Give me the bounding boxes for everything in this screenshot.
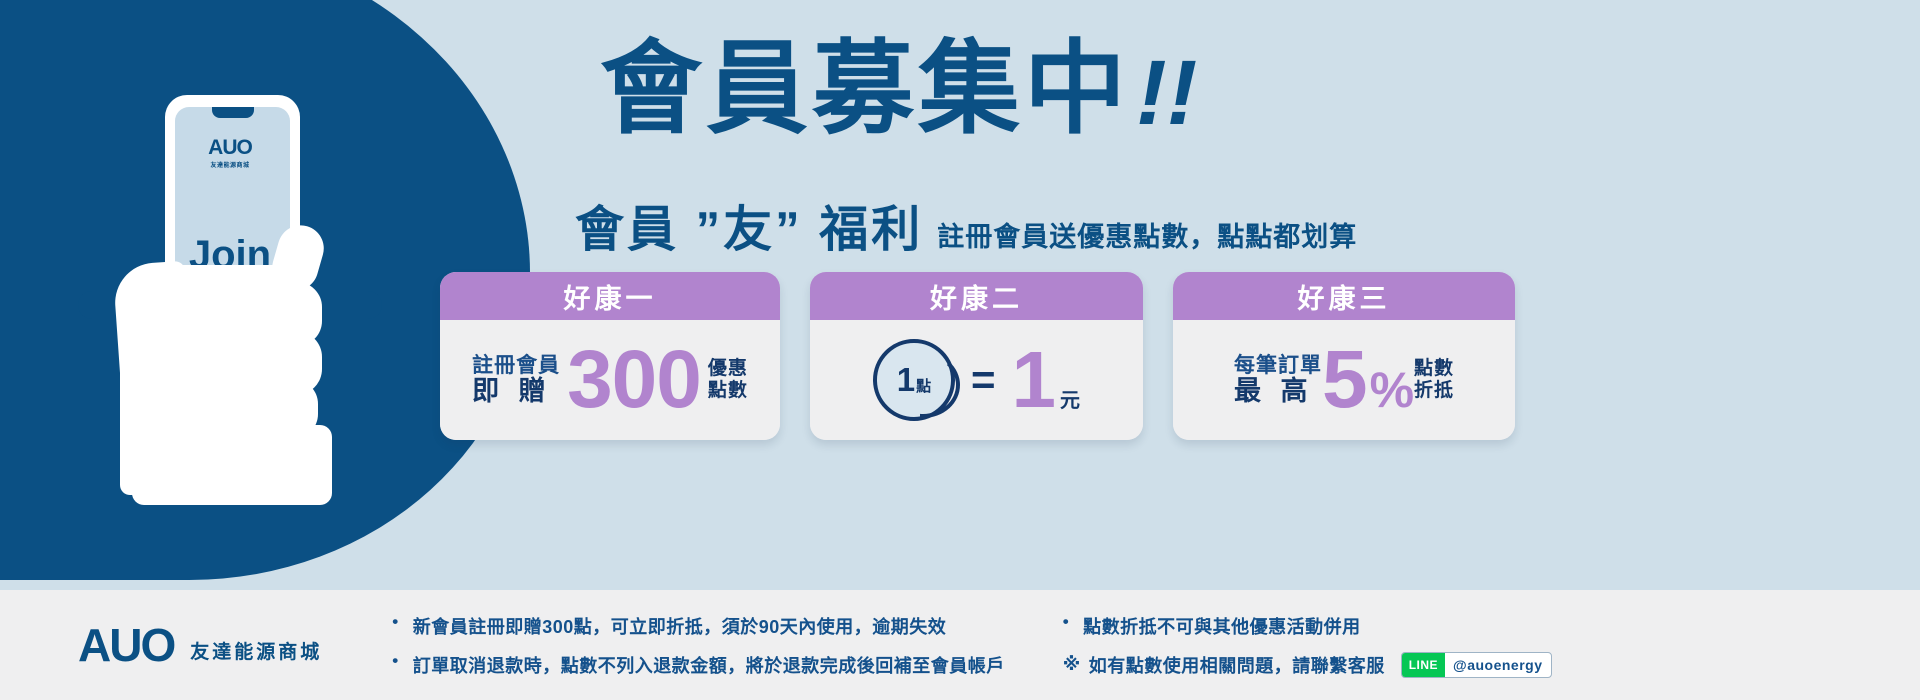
card-1-number: 300 [567,341,701,419]
footer-bar: AUO 友達能源商城 • 新會員註冊即贈300點，可立即折抵，須於90天內使用，… [0,590,1920,700]
banner-subtitle: 會員 ”友” 福利 註冊會員送優惠點數，點點都划算 [575,190,1475,261]
card-3-left-top: 每筆訂單 [1234,355,1322,377]
benefit-card-2-header: 好康二 [810,272,1143,320]
phone-in-hand-illustration: AUO 友達能源商城 Join 加入會員 [60,95,400,485]
footer-note-item: • 訂單取消退款時，點數不列入退款金額，將於退款完成後回補至會員帳戶 [392,652,1004,678]
footer-note-item: • 點數折抵不可與其他優惠活動併用 [1063,613,1552,639]
coin-number: 1 [897,361,915,399]
footer-note-text: 點數折抵不可與其他優惠活動併用 [1083,613,1361,639]
hand-finger-4 [268,379,318,439]
card-3-number: 5 [1322,341,1368,419]
footer-notes-left: • 新會員註冊即贈300點，可立即折抵，須於90天內使用，逾期失效 • 訂單取消… [392,613,1004,678]
headline-text: 會員募集中 [600,32,1130,146]
subtitle-detail: 註冊會員送優惠點數，點點都划算 [937,215,1357,254]
benefit-card-1: 好康一 註冊會員 即 贈 300 優惠 點數 [440,272,780,440]
benefit-card-2-body: 1 點 = 1 元 [810,320,1143,440]
footer-note-text: 訂單取消退款時，點數不列入退款金額，將於退款完成後回補至會員帳戶 [413,652,1005,678]
coin-icon: 1 點 [873,339,955,421]
footer-note-text: 如有點數使用相關問題，請聯繫客服 [1089,652,1385,678]
card-2-value: 1 元 [1012,342,1081,418]
coin-label: 1 點 [897,361,931,399]
footer-logo: AUO 友達能源商城 [78,622,322,668]
line-account-badge[interactable]: LINE @auoenergy [1401,652,1552,678]
footer-note-text: 新會員註冊即贈300點，可立即折抵，須於90天內使用，逾期失效 [413,613,947,639]
phone-logo: AUO 友達能源商城 [60,137,400,169]
equals-sign: = [971,356,996,404]
footer-notes: • 新會員註冊即贈300點，可立即折抵，須於90天內使用，逾期失效 • 訂單取消… [392,613,1551,678]
footer-logo-mark: AUO [78,622,174,668]
card-1-right-bottom: 點數 [708,380,748,402]
footer-logo-name: 友達能源商城 [190,637,322,668]
card-2-unit: 元 [1060,384,1080,413]
promo-banner: AUO 友達能源商城 Join 加入會員 會員募集中!! 會員 ”友” 福利 註… [0,0,1920,700]
benefit-card-3-body: 每筆訂單 最 高 5 % 點數 折抵 [1173,320,1515,440]
footer-note-item: • 新會員註冊即贈300點，可立即折抵，須於90天內使用，逾期失效 [392,613,1004,639]
card-3-right-top: 點數 [1414,358,1454,380]
subtitle-main: 會員 ”友” 福利 [575,190,923,261]
card-3-percent: 5 % [1322,341,1414,419]
card-3-symbol: % [1370,361,1414,419]
headline-exclamation: !! [1136,42,1197,144]
bullet-icon: • [392,652,398,671]
benefit-card-3-header: 好康三 [1173,272,1515,320]
reference-mark-icon: ※ [1063,654,1081,675]
benefit-card-1-header: 好康一 [440,272,780,320]
hand-thumb [113,261,196,426]
phone-logo-subtitle: 友達能源商城 [60,160,400,169]
card-1-left-bottom: 即 贈 [472,377,560,406]
footer-notes-right: • 點數折抵不可與其他優惠活動併用 ※ 如有點數使用相關問題，請聯繫客服 LIN… [1063,613,1552,678]
card-3-right-bottom: 折抵 [1414,380,1454,402]
phone-notch [212,107,254,118]
card-1-right-text: 優惠 點數 [708,358,748,402]
coin-unit: 點 [916,375,931,396]
benefit-cards: 好康一 註冊會員 即 贈 300 優惠 點數 好康二 1 點 [440,272,1515,440]
card-1-left-top: 註冊會員 [472,355,560,377]
card-1-right-top: 優惠 [708,358,748,380]
card-3-right-text: 點數 折抵 [1414,358,1454,402]
benefit-card-2: 好康二 1 點 = 1 元 [810,272,1143,440]
card-3-left-bottom: 最 高 [1234,377,1322,406]
line-logo-icon: LINE [1402,653,1445,677]
card-2-number: 1 [1012,342,1057,418]
line-account-id: @auoenergy [1445,657,1550,673]
card-3-left-text: 每筆訂單 最 高 [1234,355,1322,406]
banner-headline: 會員募集中!! [600,36,1420,143]
benefit-card-1-body: 註冊會員 即 贈 300 優惠 點數 [440,320,780,440]
footer-note-item-contact: ※ 如有點數使用相關問題，請聯繫客服 LINE @auoenergy [1063,652,1552,678]
bullet-icon: • [1063,613,1069,632]
bullet-icon: • [392,613,398,632]
phone-logo-mark: AUO [60,137,400,158]
benefit-card-3: 好康三 每筆訂單 最 高 5 % 點數 折抵 [1173,272,1515,440]
card-1-left-text: 註冊會員 即 贈 [472,355,560,406]
